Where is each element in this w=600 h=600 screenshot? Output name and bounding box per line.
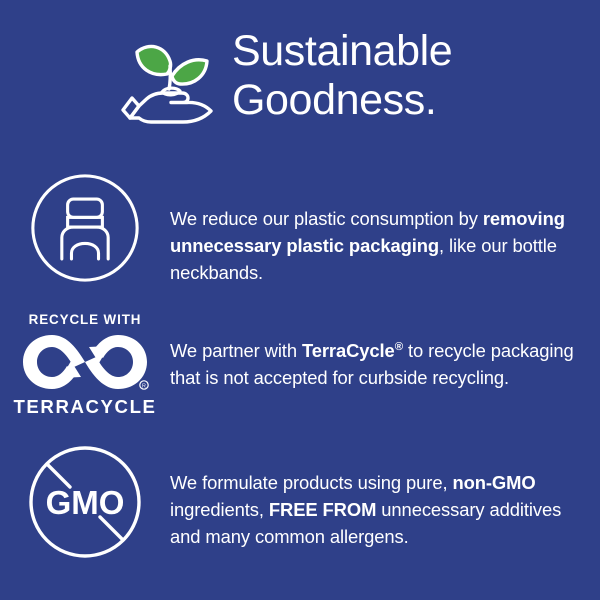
feature-icon-slot bbox=[0, 170, 170, 284]
terracycle-top-label: RECYCLE WITH bbox=[29, 312, 142, 327]
feature-text-non-gmo: We formulate products using pure, non-GM… bbox=[170, 470, 582, 550]
sustainable-goodness-poster: Sustainable Goodness. We reduce our plas… bbox=[0, 0, 600, 600]
feature-icon-slot: RECYCLE WITH R TERRACYCLE bbox=[0, 308, 170, 418]
infinity-recycle-arrows-icon: R bbox=[19, 331, 151, 393]
feature-text-terracycle: We partner with TerraCycle® to recycle p… bbox=[170, 338, 582, 391]
feature-text-plastic-reduction: We reduce our plastic consumption by rem… bbox=[170, 206, 582, 286]
svg-text:R: R bbox=[142, 384, 146, 390]
feature-row-terracycle: RECYCLE WITH R TERRACYCLE We partner wit… bbox=[0, 308, 600, 418]
feature-row-plastic-reduction: We reduce our plastic consumption by rem… bbox=[0, 170, 600, 305]
gmo-label: GMO bbox=[46, 484, 125, 521]
bottle-in-circle-icon bbox=[29, 172, 141, 284]
feature-body: We formulate products using pure, non-GM… bbox=[170, 442, 600, 569]
poster-header: Sustainable Goodness. bbox=[0, 26, 600, 126]
feature-icon-slot: GMO bbox=[0, 442, 170, 560]
no-gmo-icon: GMO bbox=[27, 444, 143, 560]
page-title: Sustainable Goodness. bbox=[232, 27, 452, 124]
hand-holding-plant-icon bbox=[118, 30, 222, 126]
terracycle-bottom-label: TERRACYCLE bbox=[13, 396, 156, 418]
feature-row-non-gmo: GMO We formulate products using pure, no… bbox=[0, 442, 600, 569]
terracycle-logo: RECYCLE WITH R TERRACYCLE bbox=[15, 310, 155, 418]
feature-body: We partner with TerraCycle® to recycle p… bbox=[170, 308, 600, 410]
feature-body: We reduce our plastic consumption by rem… bbox=[170, 170, 600, 305]
